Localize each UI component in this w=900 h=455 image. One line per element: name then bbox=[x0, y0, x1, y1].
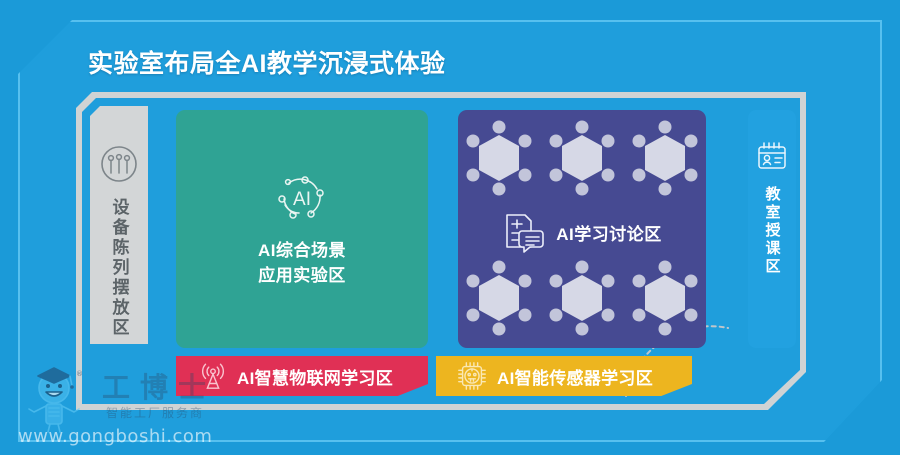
hex-table-unit bbox=[546, 119, 618, 199]
zone-equipment-display[interactable]: 设备陈列摆放区 bbox=[90, 106, 148, 344]
chip-robot-icon bbox=[456, 360, 488, 392]
page-title: 实验室布局全AI教学沉浸式体验 bbox=[88, 44, 446, 80]
hex-table-unit bbox=[463, 259, 535, 339]
hex-table-unit bbox=[629, 259, 701, 339]
equipment-rack-icon bbox=[99, 144, 139, 184]
hex-table-unit bbox=[546, 259, 618, 339]
document-chat-icon bbox=[502, 211, 546, 253]
zone-ai-discussion-label: AI学习讨论区 bbox=[556, 220, 662, 245]
zone-classroom-label: 教室授课区 bbox=[762, 186, 783, 276]
discussion-tables-row-bottom bbox=[458, 256, 706, 342]
hex-table-unit bbox=[629, 119, 701, 199]
poster-canvas: 实验室布局全AI教学沉浸式体验 设备陈列摆放区 bbox=[0, 0, 900, 455]
zone-classroom[interactable]: 教室授课区 bbox=[748, 110, 796, 348]
hex-table-unit bbox=[463, 119, 535, 199]
zone-sensor-learning-label: AI智能传感器学习区 bbox=[497, 364, 653, 389]
zone-ai-scenario-line1: AI综合场景 bbox=[258, 241, 346, 260]
zone-equipment-label: 设备陈列摆放区 bbox=[107, 198, 132, 338]
zone-ai-scenario[interactable]: AI AI综合场景 应用实验区 bbox=[176, 110, 428, 348]
zone-ai-scenario-line2: 应用实验区 bbox=[258, 266, 346, 285]
svg-text:AI: AI bbox=[293, 189, 311, 210]
ai-network-icon: AI bbox=[273, 169, 331, 227]
zone-sensor-learning[interactable]: AI智能传感器学习区 bbox=[436, 356, 692, 396]
zone-iot-learning[interactable]: AI智慧物联网学习区 bbox=[176, 356, 428, 396]
zone-iot-learning-label: AI智慧物联网学习区 bbox=[237, 364, 393, 389]
zone-ai-discussion-caption: AI学习讨论区 bbox=[458, 206, 706, 258]
zone-ai-scenario-label: AI综合场景 应用实验区 bbox=[258, 239, 346, 288]
discussion-tables-row-top bbox=[458, 116, 706, 202]
signal-tower-icon bbox=[198, 361, 228, 391]
id-card-calendar-icon bbox=[755, 140, 789, 172]
zone-ai-discussion[interactable]: AI学习讨论区 bbox=[458, 110, 706, 348]
